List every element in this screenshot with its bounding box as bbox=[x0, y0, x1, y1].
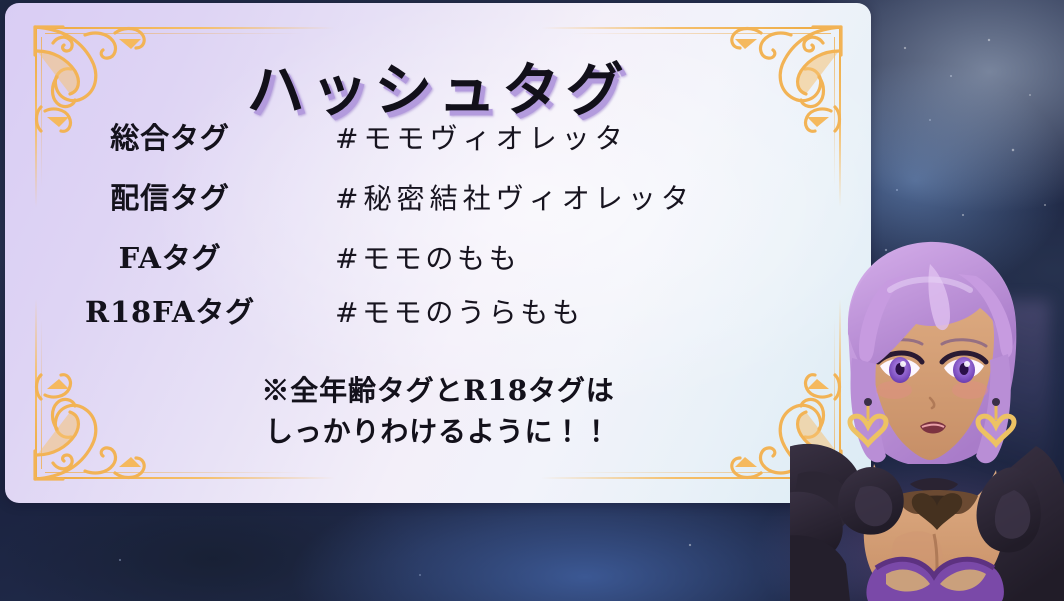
hashtag-value: #モモヴィオレッタ bbox=[335, 117, 628, 157]
hashtag-value: #モモのうらもも bbox=[335, 291, 584, 331]
vtuber-avatar bbox=[790, 238, 1064, 601]
hashtag-label: 総合タグ bbox=[5, 115, 335, 157]
hashtag-value: #モモのもも bbox=[335, 237, 520, 277]
note-line-2: しっかりわけるように！！ bbox=[5, 412, 871, 453]
hashtag-card: ハッシュタグ 総合タグ #モモヴィオレッタ 配信タグ #秘密結社ヴィオレッタ F… bbox=[5, 3, 871, 503]
screen: ハッシュタグ 総合タグ #モモヴィオレッタ 配信タグ #秘密結社ヴィオレッタ F… bbox=[0, 0, 1064, 601]
hashtag-row: R18FAタグ #モモのうらもも bbox=[5, 289, 871, 331]
note-line-1: ※全年齢タグとR18タグは bbox=[5, 371, 871, 412]
hashtag-row: FAタグ #モモのもも bbox=[5, 235, 871, 277]
hashtag-row: 配信タグ #秘密結社ヴィオレッタ bbox=[5, 175, 871, 217]
hashtag-label: FAタグ bbox=[5, 235, 335, 277]
hashtag-label: 配信タグ bbox=[5, 175, 335, 217]
hashtag-value: #秘密結社ヴィオレッタ bbox=[335, 177, 694, 217]
hashtag-label: R18FAタグ bbox=[5, 289, 335, 331]
hashtag-list: 総合タグ #モモヴィオレッタ 配信タグ #秘密結社ヴィオレッタ FAタグ #モモ… bbox=[5, 115, 871, 343]
note-text: ※全年齢タグとR18タグは しっかりわけるように！！ bbox=[5, 371, 871, 452]
hashtag-row: 総合タグ #モモヴィオレッタ bbox=[5, 115, 871, 157]
